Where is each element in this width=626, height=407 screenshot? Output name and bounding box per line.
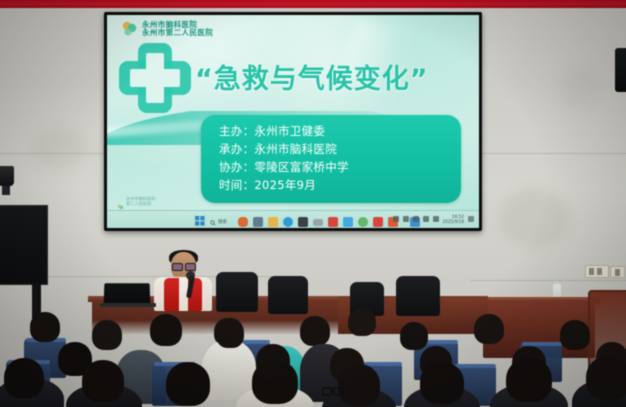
audience-head <box>560 320 590 350</box>
wall-speaker-icon <box>615 48 626 92</box>
wps-icon[interactable] <box>373 217 383 227</box>
audience-head <box>92 320 122 350</box>
audience-head <box>82 360 124 402</box>
audience-head <box>586 356 626 400</box>
speaker-bracket <box>2 186 10 195</box>
audience-head <box>506 358 552 402</box>
windows-taskbar[interactable]: 搜索 <box>107 210 479 228</box>
wechat-icon[interactable] <box>358 217 368 227</box>
presentation-slide: 永州市脑科医院 永州市第二人民医院 “急救与气候变化” 主办：永 <box>107 15 479 210</box>
audience-head <box>166 362 210 406</box>
volume-icon[interactable] <box>413 216 419 222</box>
taskbar-clock[interactable]: 16:52 2025/9/18 <box>443 214 464 225</box>
audience-head <box>400 322 428 350</box>
hospital-name-line2: 永州市第二人民医院 <box>142 29 213 37</box>
wall-monitor <box>0 205 48 285</box>
medical-cross-logo-icon <box>121 20 139 38</box>
slide-watermark: 永州市脑科医院 第二人民医院 <box>117 197 155 207</box>
audience-head <box>252 360 298 404</box>
camera-icon[interactable] <box>298 217 308 227</box>
store-icon[interactable] <box>343 217 353 227</box>
info-row-host: 承办：永州市脑科医院 <box>219 140 447 158</box>
info-row-organizer: 主办：永州市卫健委 <box>219 122 447 140</box>
search-placeholder: 搜索 <box>218 219 227 225</box>
audience-head <box>4 358 44 398</box>
windows-start-icon[interactable] <box>195 213 205 228</box>
hospital-logo: 永州市脑科医院 永州市第二人民医院 <box>121 20 213 38</box>
taskview-icon[interactable] <box>238 217 248 227</box>
audience-head <box>30 312 60 342</box>
search-input[interactable]: 搜索 <box>210 213 227 228</box>
audience-head <box>474 314 504 344</box>
audience-head <box>338 364 380 406</box>
eyeglasses-icon <box>322 384 344 394</box>
info-row-cohost: 协办：零陵区富家桥中学 <box>219 158 447 176</box>
watermark-logo-icon <box>117 198 124 205</box>
folder-icon[interactable] <box>268 217 278 227</box>
watermark-line2: 第二人民医院 <box>126 202 155 207</box>
seat-headrest <box>454 364 496 368</box>
notification-icon[interactable] <box>468 216 474 222</box>
mail-icon[interactable] <box>313 219 323 226</box>
search-icon <box>210 213 216 228</box>
audience-head <box>348 308 376 336</box>
teal-medical-cross-icon <box>119 43 191 113</box>
eyeglasses-icon <box>172 263 195 269</box>
classroom-lecture-photo: 永州市脑科医院 永州市第二人民医院 “急救与气候变化” 主办：永 <box>0 0 626 407</box>
wall-power-outlet <box>585 265 609 278</box>
info-row-date: 时间：2025年9月 <box>219 176 447 194</box>
wall-power-outlet <box>610 266 625 278</box>
audience-area <box>0 300 626 407</box>
ime-icon[interactable] <box>433 216 439 222</box>
audience-head <box>300 316 330 346</box>
screen-display: 永州市脑科医院 永州市第二人民医院 “急救与气候变化” 主办：永 <box>107 15 479 228</box>
event-info-box: 主办：永州市卫健委 承办：永州市脑科医院 协办：零陵区富家桥中学 时间：2025… <box>201 115 461 203</box>
audience-head <box>150 314 182 346</box>
slide-title: “急救与气候变化” <box>195 57 475 96</box>
battery-icon[interactable] <box>423 216 429 222</box>
pdf-icon[interactable] <box>328 217 338 227</box>
explorer-icon[interactable] <box>253 217 263 227</box>
audience-head <box>420 362 464 404</box>
audience-head <box>216 318 244 348</box>
wall-speaker-icon <box>0 166 14 186</box>
clock-date: 2025/9/18 <box>443 219 464 224</box>
projector-screen: 永州市脑科医院 永州市第二人民医院 “急救与气候变化” 主办：永 <box>104 12 482 231</box>
chevron-up-icon[interactable] <box>393 216 399 222</box>
network-icon[interactable] <box>403 216 409 222</box>
edge-icon[interactable] <box>283 217 293 227</box>
